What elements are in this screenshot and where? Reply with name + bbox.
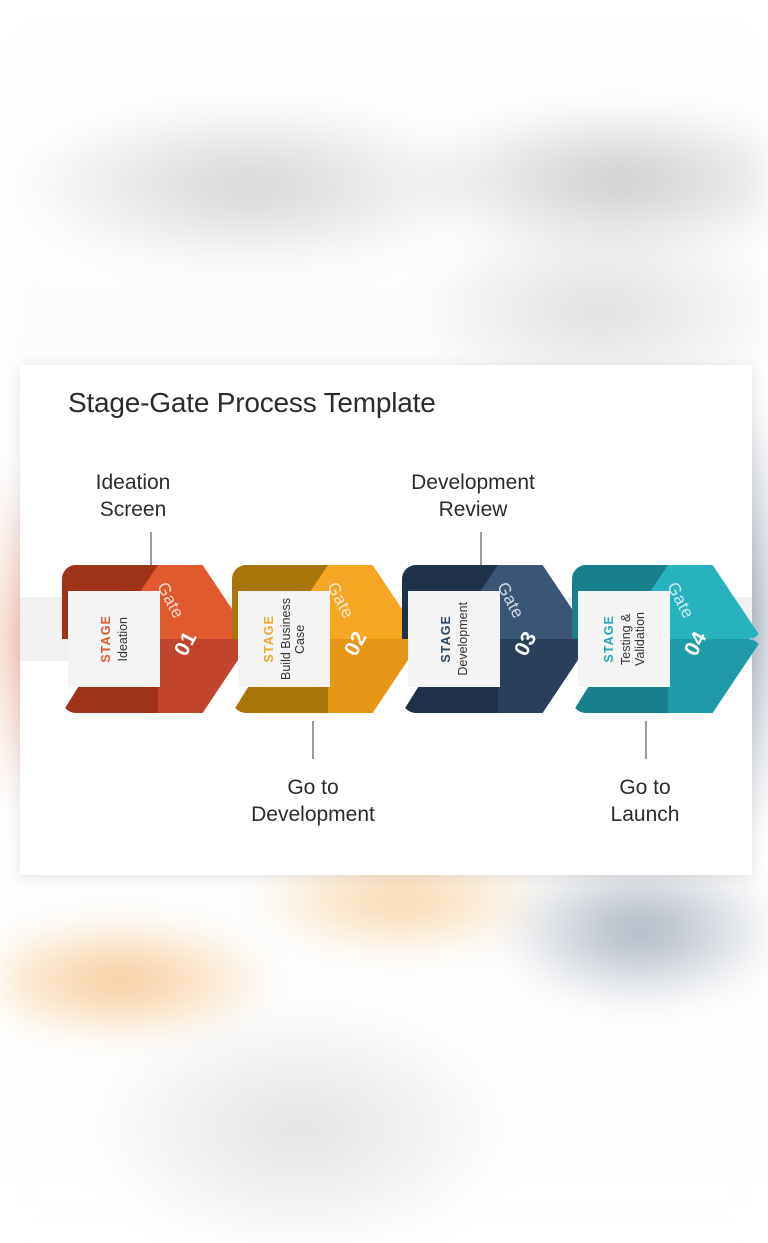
callout-top-2-line1: Development bbox=[378, 470, 568, 497]
page-title: Stage-Gate Process Template bbox=[68, 387, 436, 419]
stage-3-label-panel: Development STAGE bbox=[408, 591, 500, 687]
stage-2-kicker: STAGE bbox=[262, 615, 276, 663]
slide-card: Stage-Gate Process Template Ideation Scr… bbox=[20, 365, 752, 875]
stage-4-label-panel: Testing & Validation STAGE bbox=[578, 591, 670, 687]
leader-line-bottom-1 bbox=[312, 721, 314, 759]
callout-top-2-line2: Review bbox=[378, 497, 568, 524]
callout-bottom-2: Go to Launch bbox=[550, 775, 740, 829]
callout-top-1: Ideation Screen bbox=[38, 470, 228, 524]
stage-2[interactable]: Build Business Case STAGE Gate 02 bbox=[232, 565, 422, 713]
leader-line-bottom-2 bbox=[645, 721, 647, 759]
stage-4[interactable]: Testing & Validation STAGE Gate 04 bbox=[572, 565, 762, 713]
callout-bottom-1-line1: Go to bbox=[218, 775, 408, 802]
stage-3-kicker: STAGE bbox=[439, 615, 453, 663]
callout-bottom-2-line1: Go to bbox=[550, 775, 740, 802]
stage-1-name: Ideation bbox=[116, 617, 130, 661]
callout-bottom-1-line2: Development bbox=[218, 802, 408, 829]
stage-1[interactable]: Ideation STAGE Gate 01 bbox=[62, 565, 252, 713]
stage-1-kicker: STAGE bbox=[99, 615, 113, 663]
stage-4-name: Testing & Validation bbox=[619, 592, 647, 686]
callout-top-1-line1: Ideation bbox=[38, 470, 228, 497]
callout-bottom-2-line2: Launch bbox=[550, 802, 740, 829]
stage-2-name: Build Business Case bbox=[279, 592, 307, 686]
callout-top-2: Development Review bbox=[378, 470, 568, 524]
callout-top-1-line2: Screen bbox=[38, 497, 228, 524]
stage-1-label-panel: Ideation STAGE bbox=[68, 591, 160, 687]
stage-3[interactable]: Development STAGE Gate 03 bbox=[402, 565, 592, 713]
stage-2-label-panel: Build Business Case STAGE bbox=[238, 591, 330, 687]
callout-bottom-1: Go to Development bbox=[218, 775, 408, 829]
stage-3-name: Development bbox=[456, 602, 470, 676]
stage-4-kicker: STAGE bbox=[602, 615, 616, 663]
